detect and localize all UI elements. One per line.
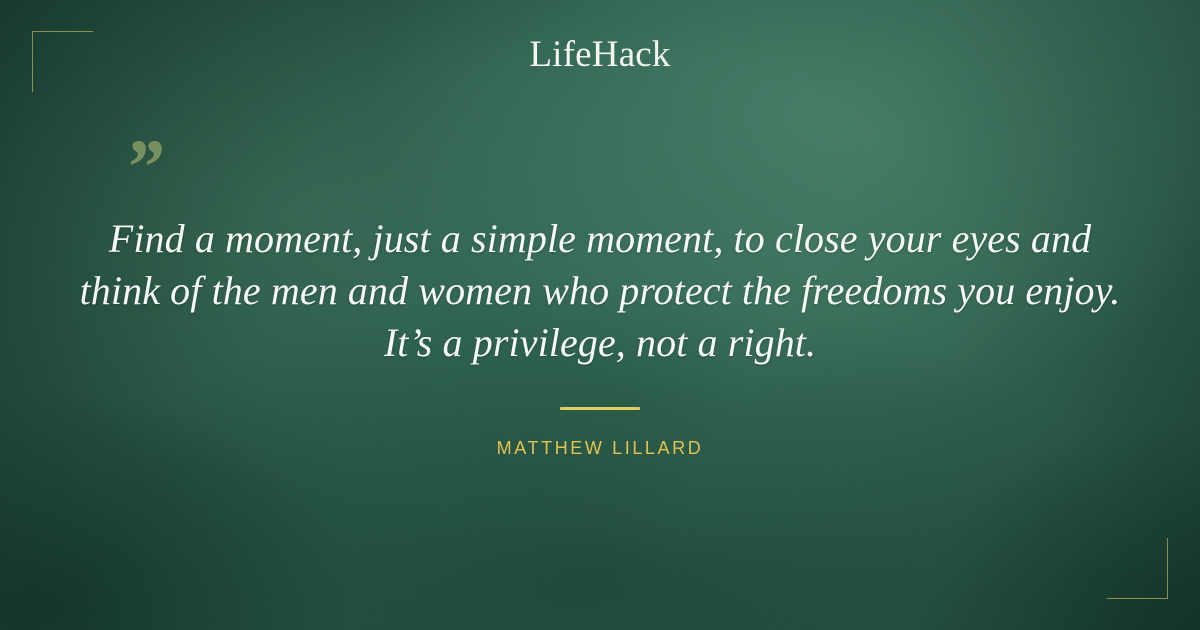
- quotation-mark-icon: ”: [124, 128, 163, 206]
- corner-bracket-bottom-right-icon: [1107, 538, 1168, 599]
- brand-logo: LifeHack: [0, 36, 1200, 73]
- author-name: MATTHEW LILLARD: [0, 438, 1200, 459]
- attribution-divider: [560, 407, 640, 410]
- quote-text: Find a moment, just a simple moment, to …: [78, 213, 1122, 369]
- quote-card: LifeHack ” Find a moment, just a simple …: [0, 0, 1200, 630]
- quote-block: Find a moment, just a simple moment, to …: [78, 213, 1122, 369]
